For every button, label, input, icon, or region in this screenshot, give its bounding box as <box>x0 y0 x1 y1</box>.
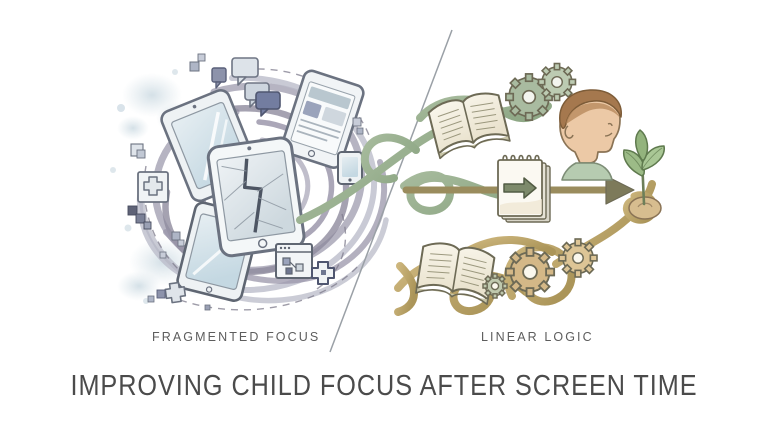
left-panel-group <box>110 54 386 310</box>
open-book <box>416 240 495 304</box>
open-book <box>427 89 510 158</box>
sprout-plant <box>624 130 665 220</box>
illustration-artwork <box>0 0 768 429</box>
child-head-profile <box>560 90 621 180</box>
notepad-arrow <box>498 156 550 223</box>
gear <box>559 239 597 277</box>
gear <box>539 64 576 101</box>
poster-canvas: FRAGMENTED FOCUS LINEAR LOGIC IMPROVING … <box>0 0 768 429</box>
small-phone-right <box>338 152 362 184</box>
gear <box>483 274 507 298</box>
browser-window-icon <box>276 244 312 278</box>
gear <box>506 248 554 296</box>
cracked-tablet <box>207 137 305 258</box>
pixel-puzzle-icon <box>138 172 168 202</box>
